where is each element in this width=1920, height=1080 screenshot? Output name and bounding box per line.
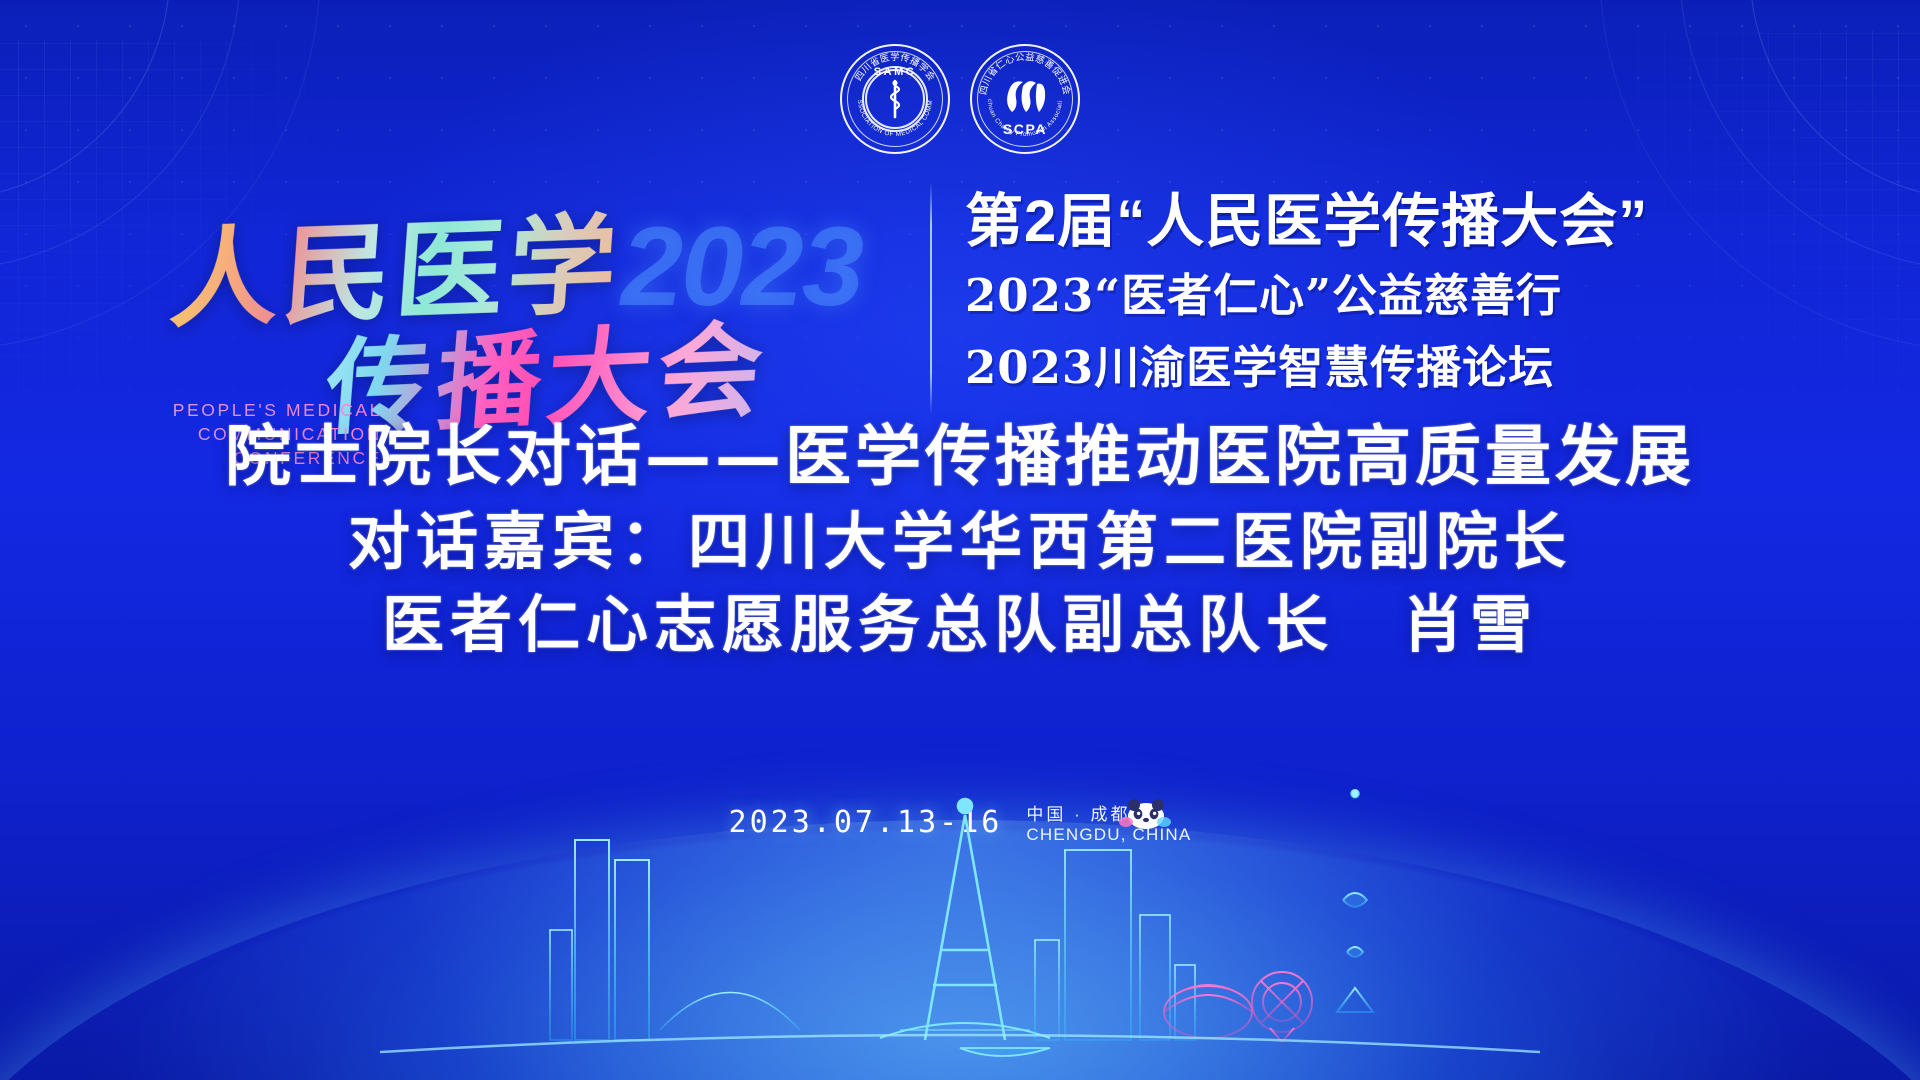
title-block: 第2届“人民医学传播大会” 2023“医者仁心”公益慈善行 2023川渝医学智慧…	[965, 188, 1865, 400]
samc-abbreviation: SAMC	[874, 66, 916, 78]
headline-block: 院士院长对话——医学传播推动医院高质量发展 对话嘉宾：四川大学华西第二医院副院长…	[0, 414, 1920, 666]
footer-block: 2023.07.13-16 中国 · 成都 CHENGDU, CHINA	[0, 800, 1920, 845]
conference-poster: 四川省医学传播学会 SICHUAN ASSOCIATION OF MEDICAL…	[0, 0, 1920, 1080]
scpa-logo: 四川省仁心公益慈善促进会 Sichuan Charity Promotion A…	[970, 44, 1080, 154]
conference-title: 第2届“人民医学传播大会”	[965, 188, 1865, 256]
logo-row: 四川省医学传播学会 SICHUAN ASSOCIATION OF MEDICAL…	[0, 44, 1920, 154]
event-location: 中国 · 成都 CHENGDU, CHINA	[1026, 800, 1191, 845]
scpa-abbreviation: SCPA	[1003, 121, 1047, 137]
headline-line-2: 对话嘉宾：四川大学华西第二医院副院长	[0, 500, 1920, 583]
conference-subtitle-2: 2023川渝医学智慧传播论坛	[965, 336, 1865, 400]
panda-icon	[1112, 794, 1172, 834]
headline-line-3: 医者仁心志愿服务总队副总队长 肖雪	[0, 583, 1920, 666]
headline-line-1: 院士院长对话——医学传播推动医院高质量发展	[0, 414, 1920, 500]
samc-logo: 四川省医学传播学会 SICHUAN ASSOCIATION OF MEDICAL…	[840, 44, 950, 154]
conference-subtitle-1: 2023“医者仁心”公益慈善行	[965, 264, 1865, 328]
heart-hands-icon	[999, 74, 1051, 124]
event-date: 2023.07.13-16	[729, 805, 1003, 840]
vertical-divider	[930, 182, 932, 414]
globe-arc	[0, 820, 1920, 1080]
